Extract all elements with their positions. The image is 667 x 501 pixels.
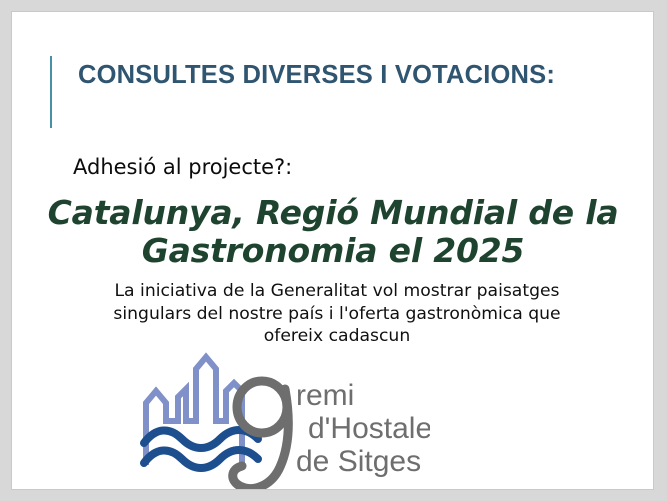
- logo-text-line-2: d'Hostaleria: [308, 412, 430, 445]
- slide: CONSULTES DIVERSES I VOTACIONS: Adhesió …: [11, 11, 654, 490]
- logo-text-line-1: remi: [296, 379, 354, 412]
- headline-line-2: Gastronomia el 2025: [33, 232, 633, 270]
- logo-text-line-3: de Sitges: [296, 445, 421, 478]
- headline-line-1: Catalunya, Regió Mundial de la: [48, 193, 619, 232]
- question-label: Adhesió al projecte?:: [73, 155, 292, 179]
- slide-title-block: CONSULTES DIVERSES I VOTACIONS:: [50, 56, 640, 128]
- body-paragraph: La iniciativa de la Generalitat vol most…: [87, 280, 587, 348]
- headline: Catalunya, Regió Mundial de la Gastronom…: [33, 194, 633, 270]
- logo-wordmark: remi d'Hostaleria de Sitges: [296, 379, 430, 478]
- page-title: CONSULTES DIVERSES I VOTACIONS:: [78, 61, 555, 90]
- gremi-dhostaleria-de-sitges-logo: remi d'Hostaleria de Sitges: [130, 347, 430, 490]
- title-accent-bar: [50, 56, 52, 128]
